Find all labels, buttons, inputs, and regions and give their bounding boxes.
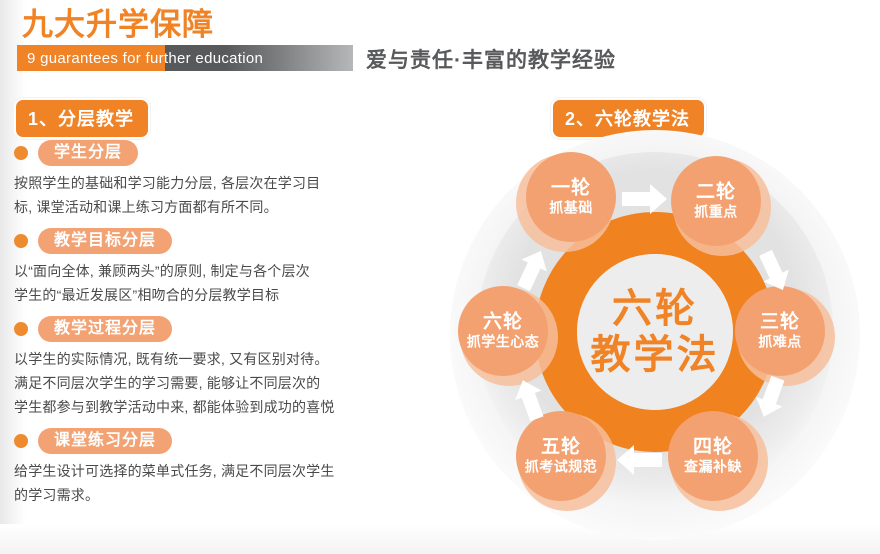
section-1-heading: 1、分层教学	[14, 98, 150, 139]
list-item-header: 教学目标分层	[14, 228, 414, 254]
body-line: 按照学生的基础和学习能力分层, 各层次在学习目	[14, 171, 414, 195]
list-item-header: 课堂练习分层	[14, 428, 414, 454]
body-line: 以学生的实际情况, 既有统一要求, 又有区别对待。	[14, 347, 414, 371]
body-line: 标, 课堂活动和课上练习方面都有所不同。	[14, 195, 414, 219]
list-item-label: 教学过程分层	[38, 316, 172, 342]
list-item-body: 按照学生的基础和学习能力分层, 各层次在学习目 标, 课堂活动和课上练习方面都有…	[14, 171, 414, 219]
bullet-dot-icon	[14, 322, 28, 336]
body-line: 学生都参与到教学活动中来, 都能体验到成功的喜悦	[14, 395, 414, 419]
list-item: 教学目标分层 以“面向全体, 兼顾两头”的原则, 制定与各个层次 学生的“最近发…	[14, 228, 414, 307]
header-tagline: 爱与责任·丰富的教学经验	[366, 44, 616, 74]
node-2-circle	[671, 156, 761, 246]
list-item: 教学过程分层 以学生的实际情况, 既有统一要求, 又有区别对待。 满足不同层次学…	[14, 316, 414, 419]
list-item-header: 学生分层	[14, 140, 414, 166]
six-round-cycle-diagram: 一轮 抓基础 二轮 抓重点 三轮 抓难点 四轮 查漏补缺 五轮 抓考试规范 六轮…	[440, 125, 880, 554]
subtitle-english: 9 guarantees for further education	[17, 50, 263, 67]
list-item-label: 教学目标分层	[38, 228, 172, 254]
bullet-dot-icon	[14, 434, 28, 448]
list-item: 学生分层 按照学生的基础和学习能力分层, 各层次在学习目 标, 课堂活动和课上练…	[14, 140, 414, 219]
node-1-circle	[526, 152, 616, 242]
node-4-circle	[668, 411, 758, 501]
list-item-label: 课堂练习分层	[38, 428, 172, 454]
node-5-circle	[516, 411, 606, 501]
list-item-label: 学生分层	[38, 140, 138, 166]
body-line: 的学习需求。	[14, 483, 414, 507]
bullet-dot-icon	[14, 146, 28, 160]
body-line: 学生的“最近发展区”相吻合的分层教学目标	[14, 283, 414, 307]
node-3-circle	[735, 286, 825, 376]
list-item: 课堂练习分层 给学生设计可选择的菜单式任务, 满足不同层次学生 的学习需求。	[14, 428, 414, 507]
bullet-dot-icon	[14, 234, 28, 248]
layered-teaching-list: 学生分层 按照学生的基础和学习能力分层, 各层次在学习目 标, 课堂活动和课上练…	[14, 140, 414, 516]
subtitle-banner: 9 guarantees for further education	[17, 45, 353, 71]
list-item-body: 以学生的实际情况, 既有统一要求, 又有区别对待。 满足不同层次学生的学习需要,…	[14, 347, 414, 419]
list-item-header: 教学过程分层	[14, 316, 414, 342]
node-6-circle	[458, 286, 548, 376]
inner-circle	[577, 254, 733, 410]
list-item-body: 给学生设计可选择的菜单式任务, 满足不同层次学生 的学习需求。	[14, 459, 414, 507]
list-item-body: 以“面向全体, 兼顾两头”的原则, 制定与各个层次 学生的“最近发展区”相吻合的…	[14, 259, 414, 307]
body-line: 以“面向全体, 兼顾两头”的原则, 制定与各个层次	[14, 259, 414, 283]
page-title: 九大升学保障	[22, 6, 214, 44]
cycle-diagram-svg	[440, 125, 880, 554]
body-line: 满足不同层次学生的学习需要, 能够让不同层次的	[14, 371, 414, 395]
body-line: 给学生设计可选择的菜单式任务, 满足不同层次学生	[14, 459, 414, 483]
